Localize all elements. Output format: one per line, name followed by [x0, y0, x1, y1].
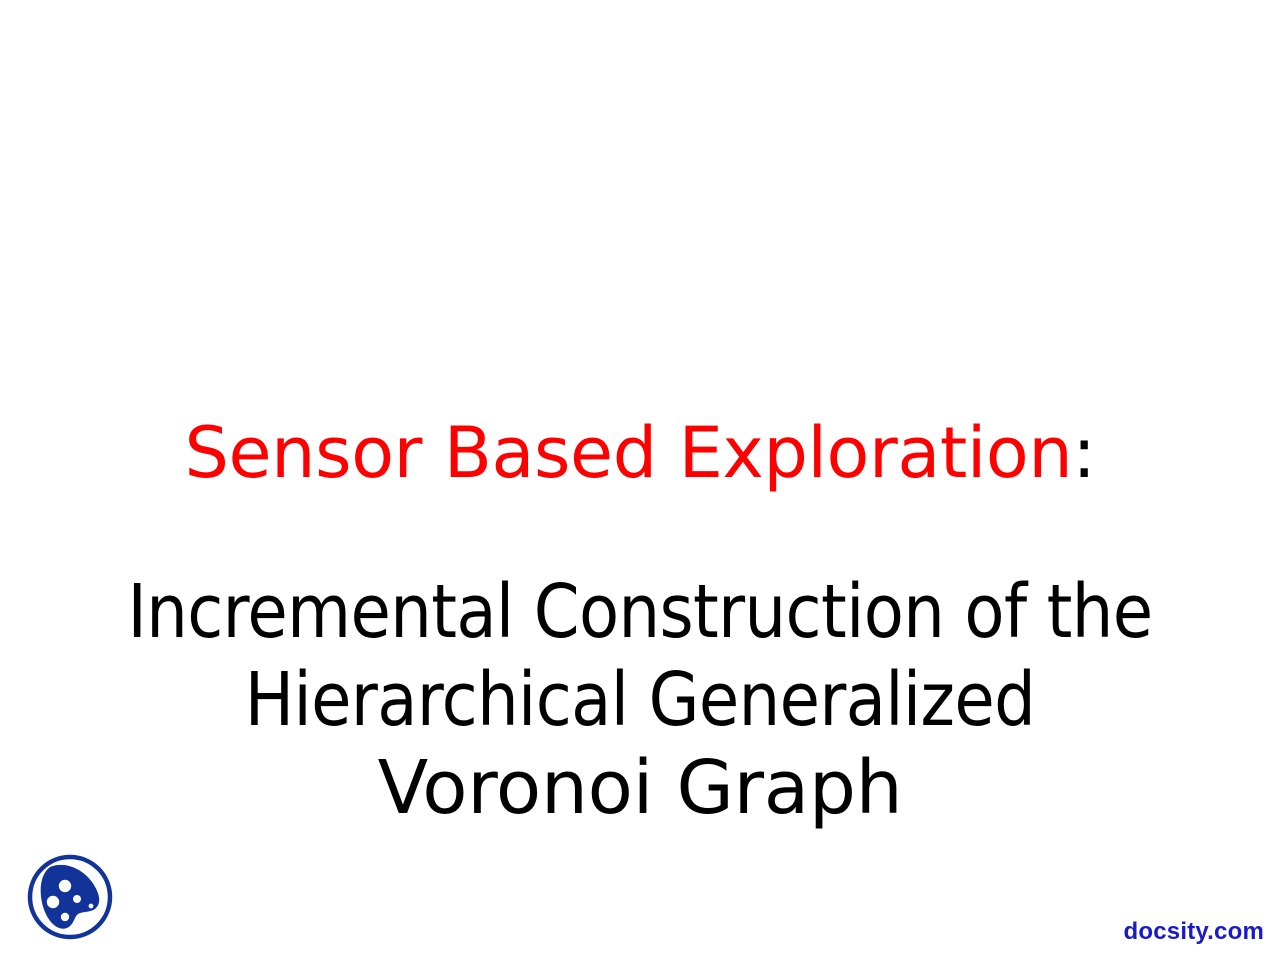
title-block: Sensor Based Exploration: Incremental Co… — [0, 410, 1280, 832]
docsity-watermark: docsity.com — [1124, 918, 1264, 946]
main-title-line-1: Incremental Construction of the — [10, 568, 1271, 656]
main-title-line-2: Hierarchical Generalized — [10, 656, 1271, 744]
slide-subject-colon: : — [1072, 412, 1095, 494]
slide-subject-accent: Sensor Based Exploration — [184, 412, 1072, 494]
slide-main-title: Incremental Construction of the Hierarch… — [0, 568, 1280, 832]
main-title-line-3: Voronoi Graph — [0, 744, 1280, 832]
docsity-logo-icon — [20, 850, 120, 946]
title-spacer — [0, 496, 1280, 568]
presentation-slide: Sensor Based Exploration: Incremental Co… — [0, 0, 1280, 960]
slide-subject-line: Sensor Based Exploration: — [0, 410, 1280, 496]
